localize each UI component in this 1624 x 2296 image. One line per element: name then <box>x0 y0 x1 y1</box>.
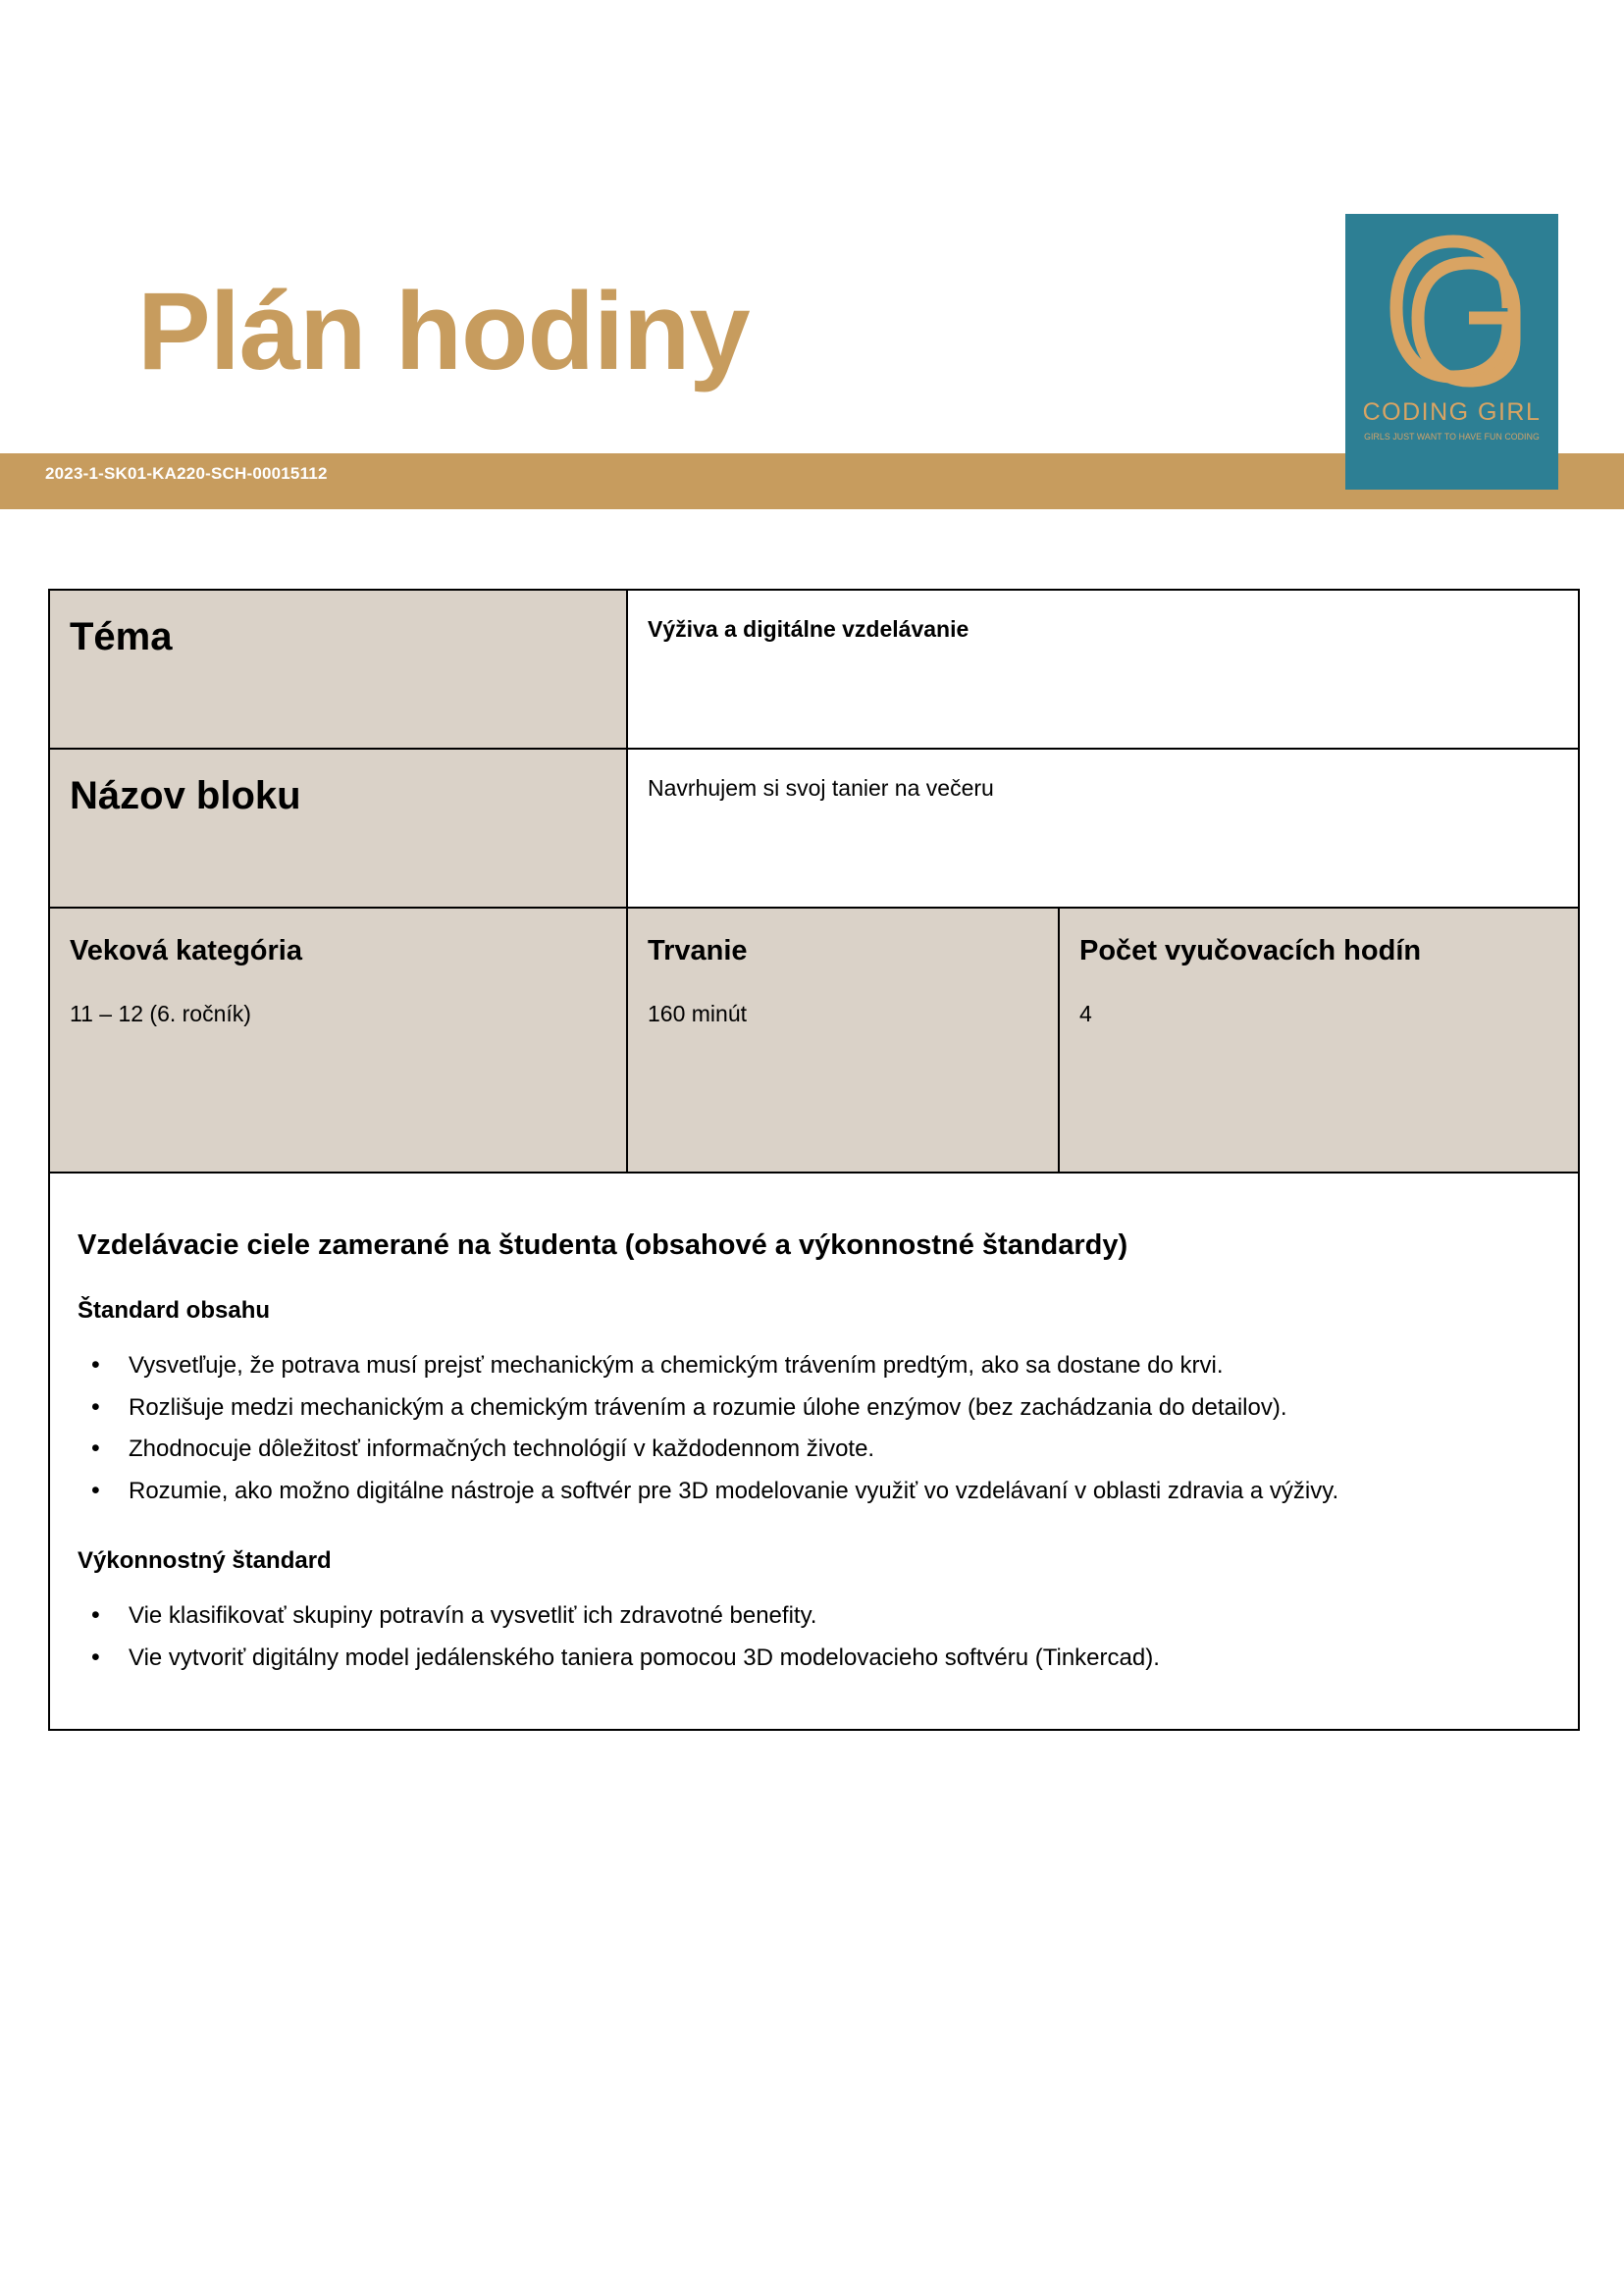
pocet-hodin-label: Počet vyučovacích hodín <box>1079 930 1558 971</box>
content-standard-heading: Štandard obsahu <box>78 1294 1550 1328</box>
trvanie-content: Trvanie 160 minút <box>628 909 1058 1049</box>
table-row-objectives: Vzdelávacie ciele zamerané na študenta (… <box>49 1173 1579 1730</box>
document-header: Plán hodiny 2023-1-SK01-KA220-SCH-000151… <box>0 0 1624 520</box>
coding-girl-logo: CODING GIRL GIRLS JUST WANT TO HAVE FUN … <box>1345 214 1558 490</box>
trvanie-label: Trvanie <box>648 930 1038 971</box>
logo-tagline: GIRLS JUST WANT TO HAVE FUN CODING <box>1354 432 1550 443</box>
veková-kategoria-content: Veková kategória 11 – 12 (6. ročník) <box>50 909 626 1049</box>
list-item: Zhodnocuje dôležitosť informačných techn… <box>78 1431 1550 1469</box>
pocet-hodin-cell: Počet vyučovacích hodín 4 <box>1059 908 1579 1173</box>
vekova-kategoria-value: 11 – 12 (6. ročník) <box>70 997 606 1031</box>
nazov-bloku-label: Názov bloku <box>50 750 626 838</box>
content-standard-list: Vysvetľuje, že potrava musí prejsť mecha… <box>78 1347 1550 1512</box>
list-item: Vysvetľuje, že potrava musí prejsť mecha… <box>78 1347 1550 1385</box>
pocet-hodin-value: 4 <box>1079 997 1558 1031</box>
nazov-bloku-value-cell: Navrhujem si svoj tanier na večeru <box>627 749 1579 908</box>
list-item: Rozumie, ako možno digitálne nástroje a … <box>78 1473 1550 1511</box>
lesson-plan-table: Téma Výživa a digitálne vzdelávanie Názo… <box>48 589 1580 1731</box>
tema-value: Výživa a digitálne vzdelávanie <box>628 591 1578 664</box>
logo-name: CODING GIRL <box>1345 398 1558 427</box>
pocet-hodin-content: Počet vyučovacích hodín 4 <box>1060 909 1578 1049</box>
vekova-kategoria-label: Veková kategória <box>70 930 606 971</box>
objectives-cell: Vzdelávacie ciele zamerané na študenta (… <box>49 1173 1579 1730</box>
nazov-bloku-value: Navrhujem si svoj tanier na večeru <box>628 750 1578 823</box>
list-item: Vie vytvoriť digitálny model jedálenskéh… <box>78 1640 1550 1678</box>
objectives-content: Vzdelávacie ciele zamerané na študenta (… <box>50 1174 1578 1729</box>
tema-label: Téma <box>50 591 626 679</box>
nazov-bloku-label-cell: Názov bloku <box>49 749 627 908</box>
trvanie-cell: Trvanie 160 minút <box>627 908 1059 1173</box>
performance-standard-heading: Výkonnostný štandard <box>78 1544 1550 1578</box>
tema-value-cell: Výživa a digitálne vzdelávanie <box>627 590 1579 749</box>
table-row-nazov-bloku: Názov bloku Navrhujem si svoj tanier na … <box>49 749 1579 908</box>
veková-kategoria-cell: Veková kategória 11 – 12 (6. ročník) <box>49 908 627 1173</box>
trvanie-value: 160 minút <box>648 997 1038 1031</box>
list-item: Rozlišuje medzi mechanickým a chemickým … <box>78 1389 1550 1428</box>
project-code: 2023-1-SK01-KA220-SCH-00015112 <box>45 464 328 484</box>
page-title: Plán hodiny <box>137 277 750 387</box>
table-row-tema: Téma Výživa a digitálne vzdelávanie <box>49 590 1579 749</box>
coding-girl-g-monogram-icon <box>1345 224 1558 395</box>
list-item: Vie klasifikovať skupiny potravín a vysv… <box>78 1597 1550 1636</box>
objectives-title: Vzdelávacie ciele zamerané na študenta (… <box>78 1226 1550 1265</box>
tema-label-cell: Téma <box>49 590 627 749</box>
table-row-meta: Veková kategória 11 – 12 (6. ročník) Trv… <box>49 908 1579 1173</box>
performance-standard-list: Vie klasifikovať skupiny potravín a vysv… <box>78 1597 1550 1678</box>
